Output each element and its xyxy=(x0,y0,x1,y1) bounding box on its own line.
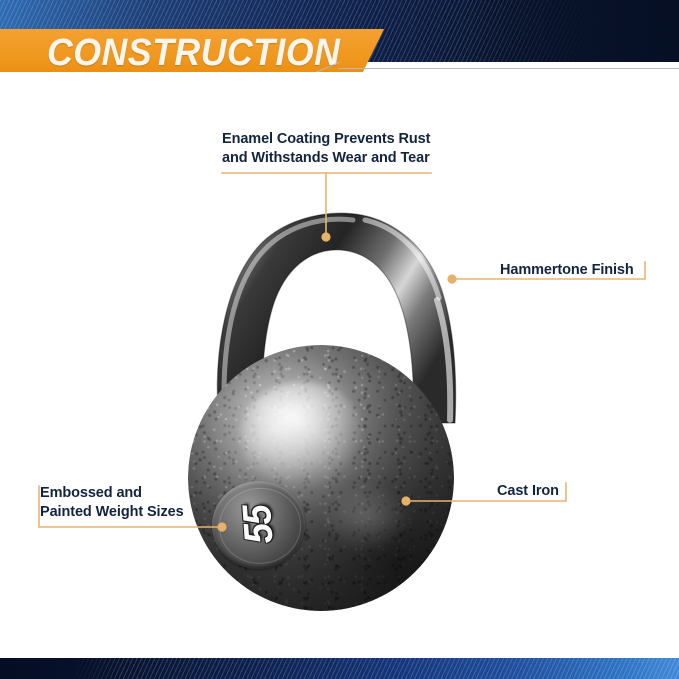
footer xyxy=(0,658,679,679)
callout-embossed-weight-sizes: Embossed and Painted Weight Sizes xyxy=(40,484,184,522)
kettlebell-body: 55 xyxy=(188,345,454,611)
kettlebell-shading xyxy=(188,345,454,611)
header-rule-diagonal xyxy=(312,62,346,72)
header-rule xyxy=(338,68,679,69)
callout-enamel-coating-line2: and Withstands Wear and Tear xyxy=(222,149,430,168)
product-feature-panel: CONSTRUCTION xyxy=(0,0,679,679)
header-gradient-overlay xyxy=(469,0,679,72)
product-image: 55 xyxy=(150,205,510,625)
callout-enamel-coating: Enamel Coating Prevents Rust and Withsta… xyxy=(222,130,430,168)
callout-cast-iron: Cast Iron xyxy=(497,482,559,501)
footer-left-shade xyxy=(0,658,122,679)
callout-embossed-line2: Painted Weight Sizes xyxy=(40,503,184,522)
callout-cast-iron-line1: Cast Iron xyxy=(497,482,559,501)
callout-enamel-coating-line1: Enamel Coating Prevents Rust xyxy=(222,130,430,149)
callout-embossed-line1: Embossed and xyxy=(40,484,184,503)
weight-value: 55 xyxy=(237,505,280,545)
callout-hammertone-finish: Hammertone Finish xyxy=(500,261,634,280)
callout-hammertone-finish-line1: Hammertone Finish xyxy=(500,261,634,280)
header: CONSTRUCTION xyxy=(0,0,679,72)
page-title: CONSTRUCTION xyxy=(47,31,340,72)
